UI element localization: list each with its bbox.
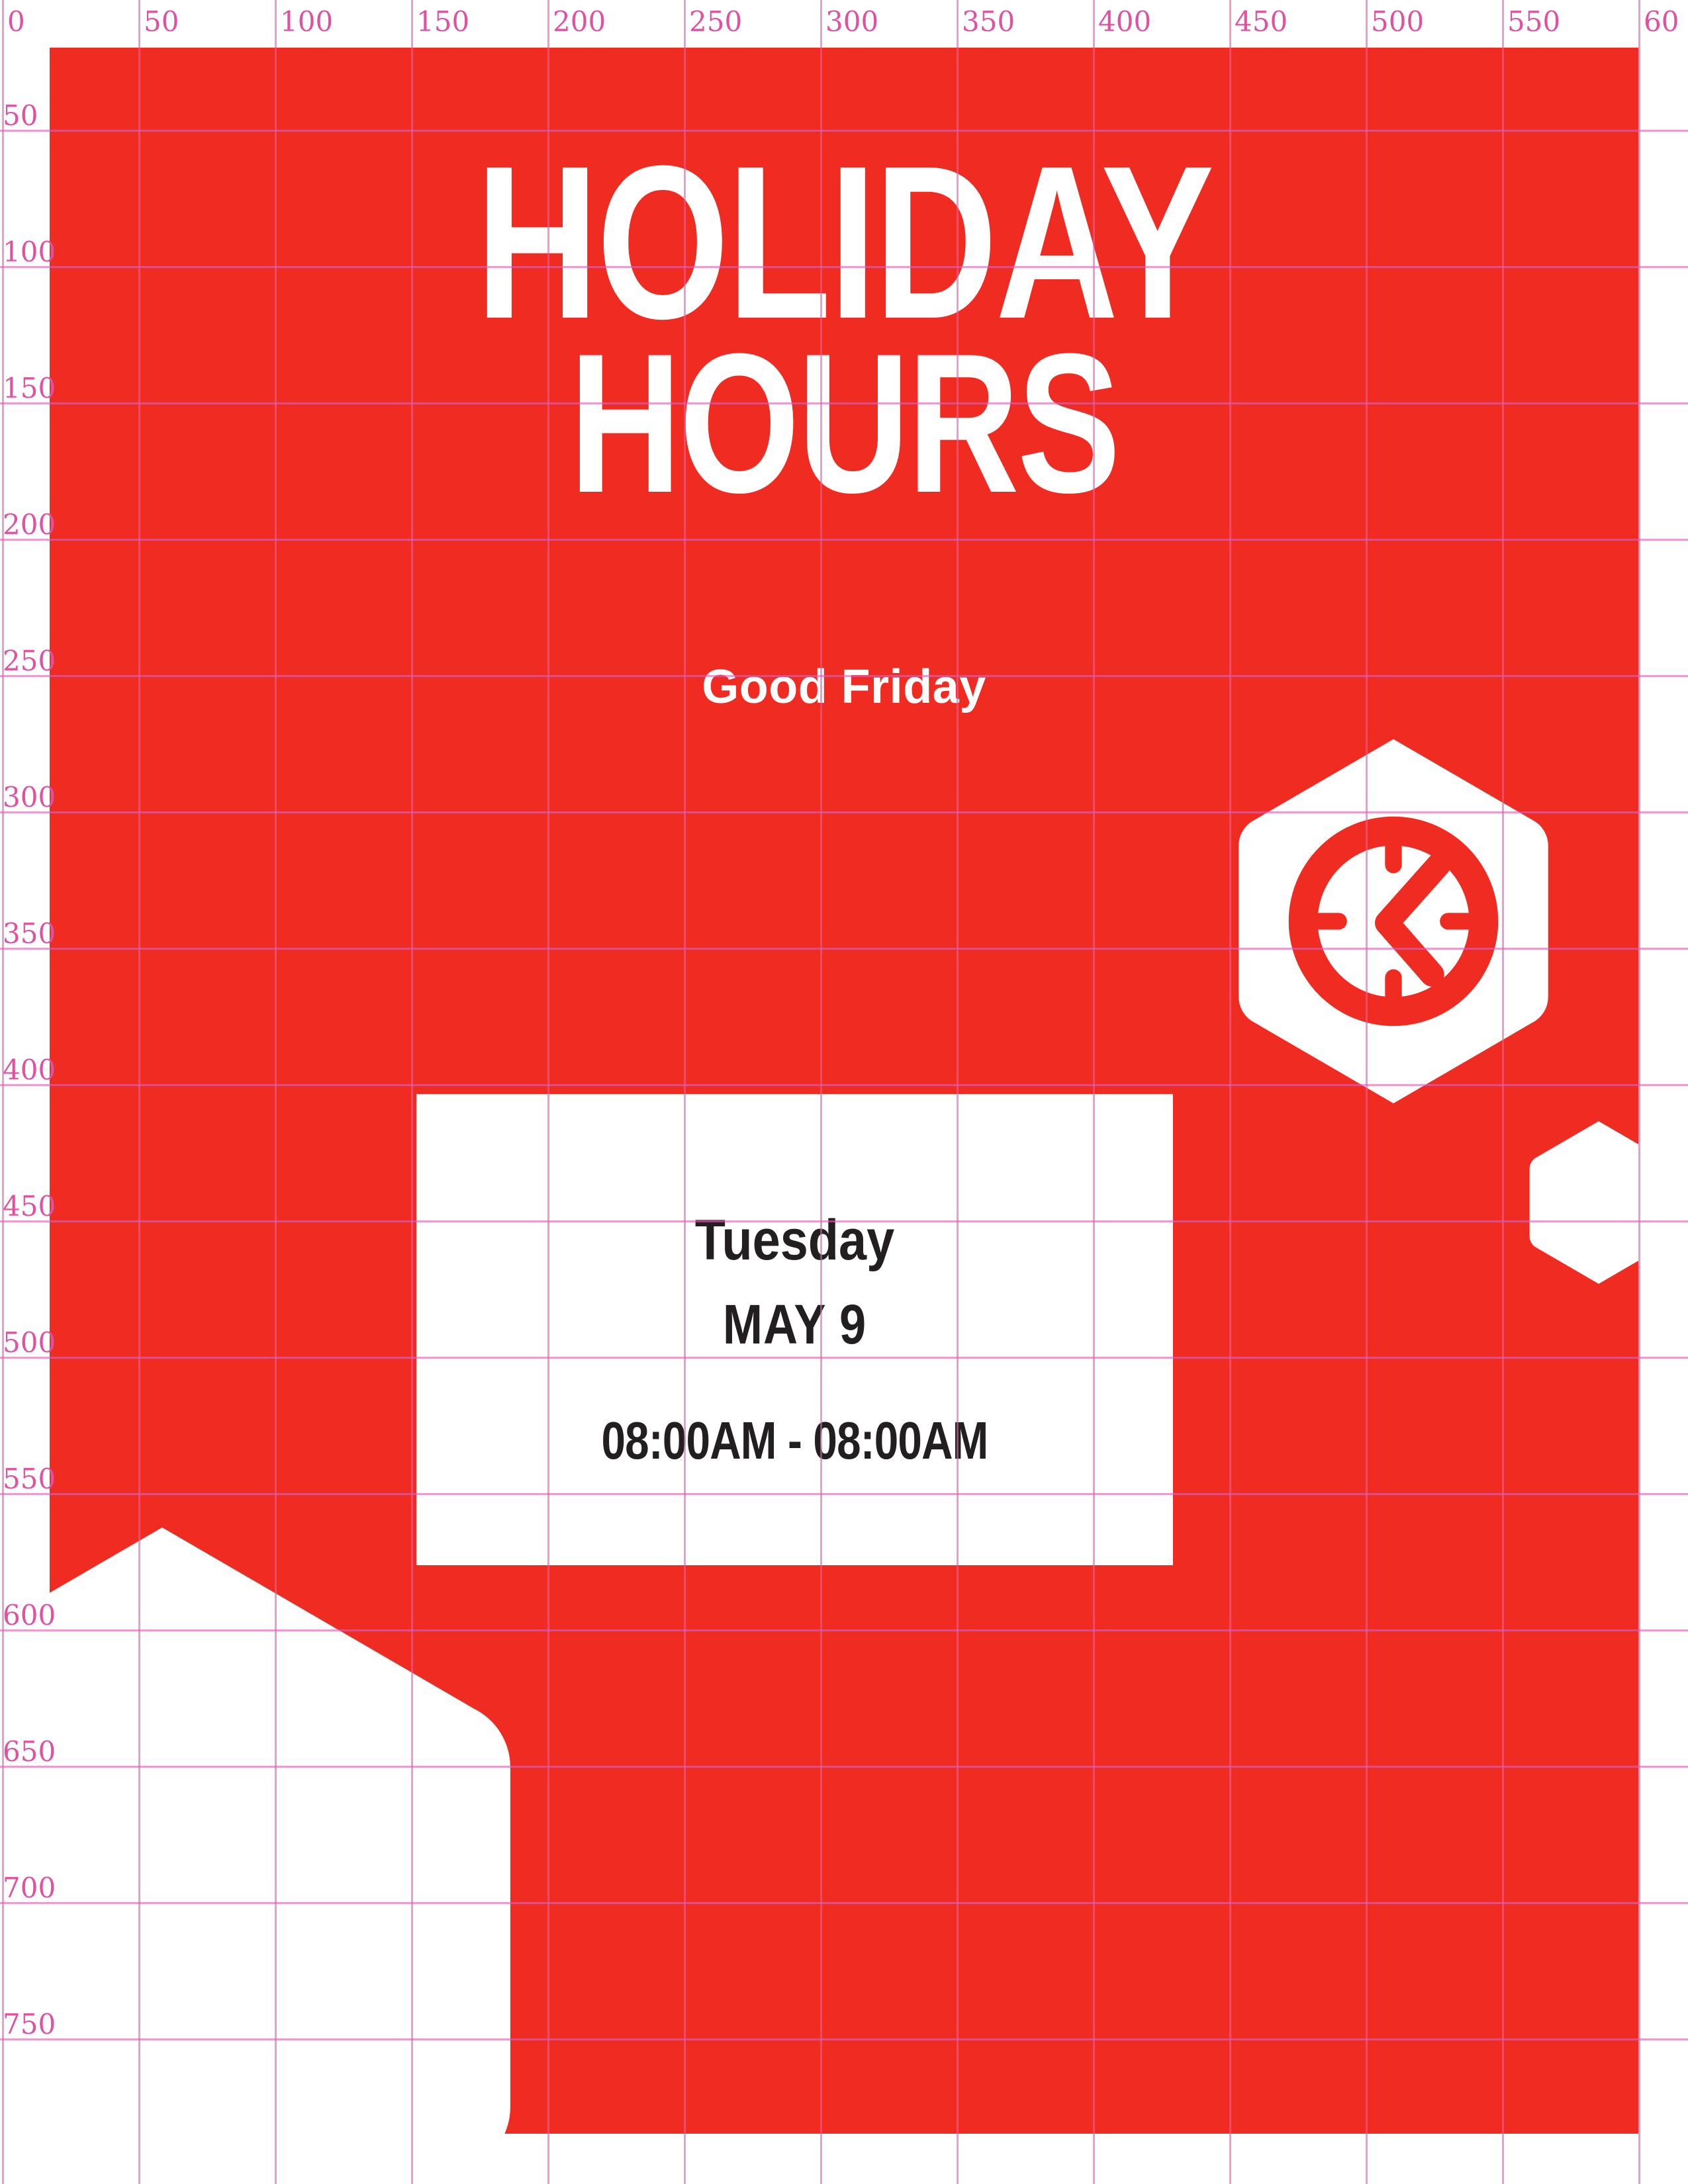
grid-label-y: 100 <box>3 238 56 266</box>
grid-label-x: 250 <box>689 8 742 36</box>
grid-label-x: 200 <box>553 8 606 36</box>
grid-label-y: 600 <box>3 1602 56 1629</box>
grid-label-x: 450 <box>1235 8 1288 36</box>
small-hexagon-decoration <box>1526 1120 1638 1285</box>
holiday-info-card: Tuesday MAY 9 08:00AM - 08:00AM <box>416 1094 1173 1565</box>
grid-label-y: 200 <box>3 511 56 539</box>
clock-icon <box>1303 831 1484 1012</box>
grid-label-y: 150 <box>3 375 56 402</box>
poster-canvas: HOLIDAY HOURS Good Friday <box>0 0 1688 2184</box>
grid-label-x: 300 <box>825 8 878 36</box>
grid-label-y: 50 <box>3 102 38 130</box>
grid-label-y: 250 <box>3 647 56 675</box>
grid-label-x: 60 <box>1644 8 1679 36</box>
card-day-label: Tuesday <box>462 1208 1128 1273</box>
card-time-range-label: 08:00AM - 08:00AM <box>485 1410 1105 1471</box>
poster-subtitle: Good Friday <box>50 660 1638 714</box>
grid-label-y: 700 <box>3 1874 56 1902</box>
grid-label-y: 450 <box>3 1193 56 1220</box>
grid-label-x: 100 <box>280 8 333 36</box>
grid-label-y: 300 <box>3 784 56 811</box>
grid-label-x: 400 <box>1098 8 1151 36</box>
clock-badge <box>1231 736 1556 1107</box>
grid-label-y: 550 <box>3 1465 56 1493</box>
grid-label-x: 500 <box>1371 8 1424 36</box>
grid-label-x: 150 <box>416 8 469 36</box>
grid-line-vertical <box>1638 0 1640 2184</box>
grid-label-x: 0 <box>7 8 25 36</box>
headline-block: HOLIDAY HOURS <box>50 147 1638 510</box>
grid-label-y: 500 <box>3 1329 56 1357</box>
grid-label-x: 50 <box>144 8 179 36</box>
grid-label-y: 350 <box>3 920 56 948</box>
grid-label-y: 750 <box>3 2011 56 2038</box>
headline-line-hours: HOURS <box>224 337 1464 510</box>
grid-label-x: 550 <box>1507 8 1560 36</box>
grid-line-vertical <box>2 0 4 2184</box>
corner-hexagon-decoration <box>50 1520 526 2134</box>
headline-line-holiday: HOLIDAY <box>224 147 1464 337</box>
grid-label-y: 650 <box>3 1738 56 1766</box>
grid-label-y: 400 <box>3 1056 56 1084</box>
grid-label-x: 350 <box>962 8 1015 36</box>
card-date-label: MAY 9 <box>469 1293 1120 1357</box>
poster-red-panel: HOLIDAY HOURS Good Friday <box>50 48 1638 2134</box>
